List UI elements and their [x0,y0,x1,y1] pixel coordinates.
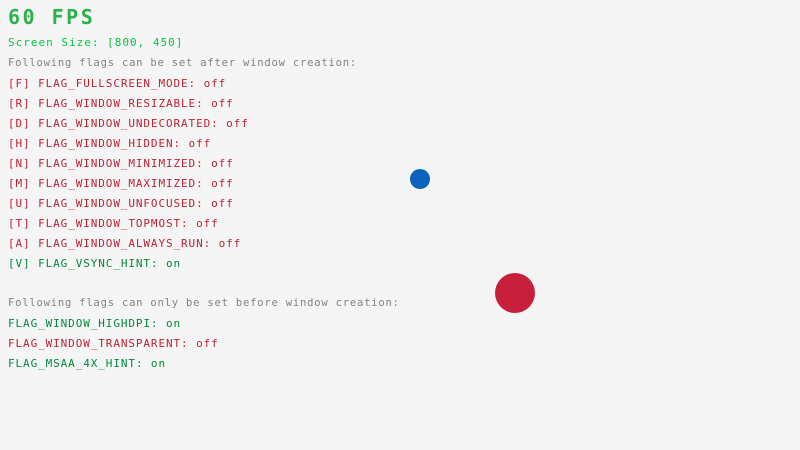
flag-row-window-maximized[interactable]: [M] FLAG_WINDOW_MAXIMIZED: off [8,178,234,189]
flag-row-window-highdpi: FLAG_WINDOW_HIGHDPI: on [8,318,181,329]
flag-row-window-undecorated[interactable]: [D] FLAG_WINDOW_UNDECORATED: off [8,118,249,129]
flag-row-msaa-4x-hint: FLAG_MSAA_4X_HINT: on [8,358,166,369]
flag-row-fullscreen-mode[interactable]: [F] FLAG_FULLSCREEN_MODE: off [8,78,226,89]
creation-flags-heading: Following flags can only be set before w… [8,298,400,309]
flag-row-window-hidden[interactable]: [H] FLAG_WINDOW_HIDDEN: off [8,138,211,149]
fps-counter: 60 FPS [8,7,95,27]
flag-row-window-unfocused[interactable]: [U] FLAG_WINDOW_UNFOCUSED: off [8,198,234,209]
flag-row-window-minimized[interactable]: [N] FLAG_WINDOW_MINIMIZED: off [8,158,234,169]
flag-row-window-transparent: FLAG_WINDOW_TRANSPARENT: off [8,338,219,349]
screen-size-label: Screen Size: [800, 450] [8,37,183,48]
raylib-window-canvas: 60 FPS Screen Size: [800, 450] Following… [0,0,800,450]
blue-ball-shape [410,169,430,189]
flag-row-window-resizable[interactable]: [R] FLAG_WINDOW_RESIZABLE: off [8,98,234,109]
red-ball-shape [495,273,535,313]
flag-row-vsync-hint[interactable]: [V] FLAG_VSYNC_HINT: on [8,258,181,269]
flag-row-window-always-run[interactable]: [A] FLAG_WINDOW_ALWAYS_RUN: off [8,238,241,249]
runtime-flags-heading: Following flags can be set after window … [8,58,357,69]
flag-row-window-topmost[interactable]: [T] FLAG_WINDOW_TOPMOST: off [8,218,219,229]
